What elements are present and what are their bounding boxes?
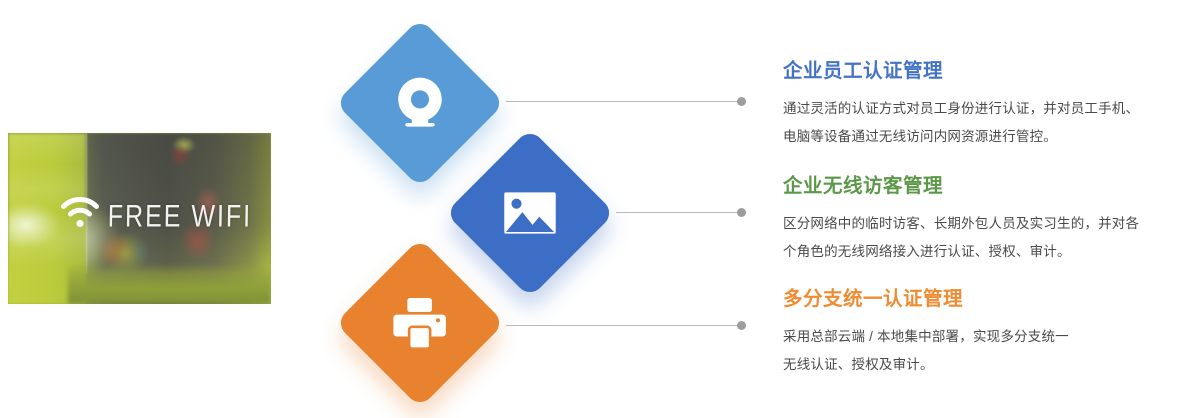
feature-desc-2: 区分网络中的临时访客、长期外包人员及实习生的，并对各 个角色的无线网络接入进行认… bbox=[783, 210, 1193, 266]
feature-desc-3-line-1: 采用总部云端 / 本地集中部署，实现多分支统一 bbox=[783, 329, 1069, 344]
feature-desc-2-line-2: 个角色的无线网络接入进行认证、授权、审计。 bbox=[783, 244, 1071, 259]
connector-dot-2 bbox=[737, 208, 746, 217]
feature-showcase-banner: FREE WIFI bbox=[0, 0, 1200, 418]
photo-overlay-text: FREE WIFI bbox=[107, 199, 252, 235]
feature-node-2[interactable] bbox=[445, 128, 615, 298]
wifi-icon bbox=[60, 195, 100, 229]
feature-text-3: 多分支统一认证管理 采用总部云端 / 本地集中部署，实现多分支统一 无线认证、授… bbox=[783, 288, 1193, 379]
feature-node-1[interactable] bbox=[335, 18, 505, 188]
connector-dot-3 bbox=[737, 321, 746, 330]
free-wifi-photo: FREE WIFI bbox=[8, 133, 271, 304]
connector-line-2 bbox=[616, 212, 738, 213]
feature-desc-1-line-1: 通过灵活的认证方式对员工身份进行认证，并对员工手机、 bbox=[783, 101, 1139, 116]
printer-icon bbox=[392, 298, 448, 349]
feature-title-1: 企业员工认证管理 bbox=[783, 60, 1193, 83]
image-icon bbox=[503, 191, 557, 235]
feature-desc-3-line-2: 无线认证、授权及审计。 bbox=[783, 357, 934, 372]
feature-desc-3: 采用总部云端 / 本地集中部署，实现多分支统一 无线认证、授权及审计。 bbox=[783, 323, 1193, 379]
connector-line-3 bbox=[506, 325, 738, 326]
connector-dot-1 bbox=[737, 97, 746, 106]
photo-bottom-ledge bbox=[68, 264, 271, 304]
feature-desc-2-line-1: 区分网络中的临时访客、长期外包人员及实习生的，并对各 bbox=[783, 216, 1139, 231]
feature-text-1: 企业员工认证管理 通过灵活的认证方式对员工身份进行认证，并对员工手机、 电脑等设… bbox=[783, 60, 1193, 151]
connector-line-1 bbox=[506, 101, 738, 102]
feature-title-3: 多分支统一认证管理 bbox=[783, 288, 1193, 311]
feature-desc-1-line-2: 电脑等设备通过无线访问内网资源进行管控。 bbox=[783, 129, 1057, 144]
webcam-icon bbox=[391, 74, 449, 132]
feature-title-2: 企业无线访客管理 bbox=[783, 175, 1193, 198]
feature-node-3[interactable] bbox=[335, 238, 505, 408]
feature-text-2: 企业无线访客管理 区分网络中的临时访客、长期外包人员及实习生的，并对各 个角色的… bbox=[783, 175, 1193, 266]
feature-desc-1: 通过灵活的认证方式对员工身份进行认证，并对员工手机、 电脑等设备通过无线访问内网… bbox=[783, 95, 1193, 151]
